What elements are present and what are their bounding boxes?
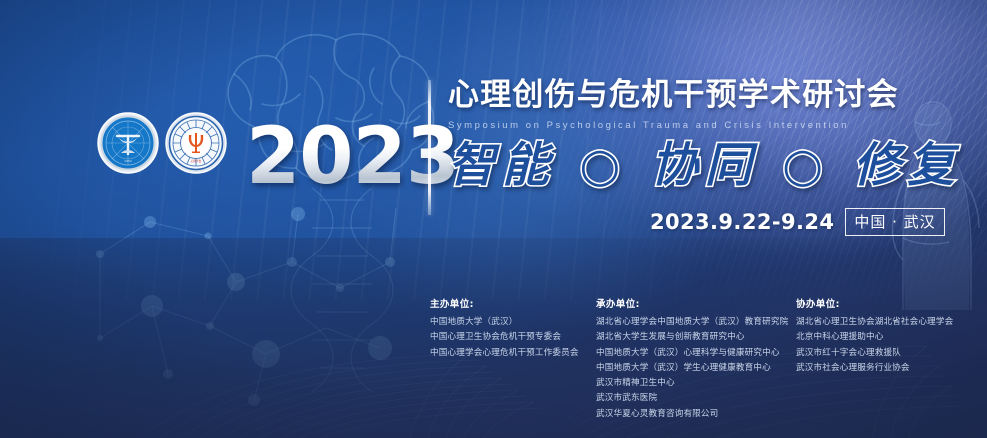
event-location-badge: 中国 · 武汉 [845, 208, 944, 236]
organizer-column-supporter: 协办单位: 湖北省心理卫生协会湖北省社会心理学会 北京中科心理援助中心 武汉市红… [796, 296, 956, 422]
organizer-column-coorganizer: 承办单位: 湖北省心理学会中国地质大学（武汉）教育研究院 湖北省大学生发展与创新… [596, 296, 772, 422]
psychology-association-emblem: 心理学会 [165, 112, 227, 174]
svg-text:心理学会: 心理学会 [191, 159, 202, 163]
vertical-divider [428, 80, 431, 215]
china-university-of-geosciences-emblem: 1952 [97, 112, 159, 174]
organizer-column-host: 主办单位: 中国地质大学（武汉） 中国心理卫生协会危机干预专委会 中国心理学会心… [430, 296, 572, 422]
organizer-column-title: 承办单位: [596, 296, 772, 310]
organizer-item: 湖北省心理学会中国地质大学（武汉）教育研究院 [596, 315, 772, 330]
organizer-column-title: 协办单位: [796, 296, 956, 310]
logo-group: 1952 [97, 112, 227, 174]
organizers-section: 主办单位: 中国地质大学（武汉） 中国心理卫生协会危机干预专委会 中国心理学会心… [430, 296, 956, 422]
slogan-text: 智能 ○ 协同 ○ 修复 [448, 140, 918, 193]
organizer-item: 中国心理卫生协会危机干预专委会 [430, 330, 572, 345]
svg-text:1952: 1952 [124, 159, 132, 163]
organizer-item: 湖北省大学生发展与创新教育研究中心 [596, 330, 772, 345]
organizer-item: 中国地质大学（武汉） [430, 315, 572, 330]
organizer-item: 中国心理学会心理危机干预工作委员会 [430, 346, 572, 361]
date-location-row: 2023.9.22-9.24 中国 · 武汉 [448, 208, 918, 236]
conference-banner: 1952 [0, 0, 987, 438]
page-title: 心理创伤与危机干预学术研讨会 [448, 78, 918, 113]
title-block: 心理创伤与危机干预学术研讨会 Symposium on Psychologica… [448, 78, 918, 236]
organizer-item: 中国地质大学（武汉）学生心理健康教育中心 [596, 361, 772, 376]
organizer-item: 武汉市武东医院 [596, 391, 772, 406]
organizer-column-title: 主办单位: [430, 296, 572, 310]
event-date: 2023.9.22-9.24 [650, 210, 834, 234]
organizer-item: 武汉市精神卫生中心 [596, 376, 772, 391]
organizer-item: 武汉市红十字会心理救援队 [796, 346, 956, 361]
organizer-item: 武汉市社会心理服务行业协会 [796, 361, 956, 376]
organizer-item: 中国地质大学（武汉）心理科学与健康研究中心 [596, 346, 772, 361]
organizer-item: 北京中科心理援助中心 [796, 330, 956, 345]
organizer-item: 湖北省心理卫生协会湖北省社会心理学会 [796, 315, 956, 330]
subtitle-english: Symposium on Psychological Trauma and Cr… [448, 120, 918, 131]
organizer-item: 武汉华夏心灵教育咨询有限公司 [596, 407, 772, 422]
